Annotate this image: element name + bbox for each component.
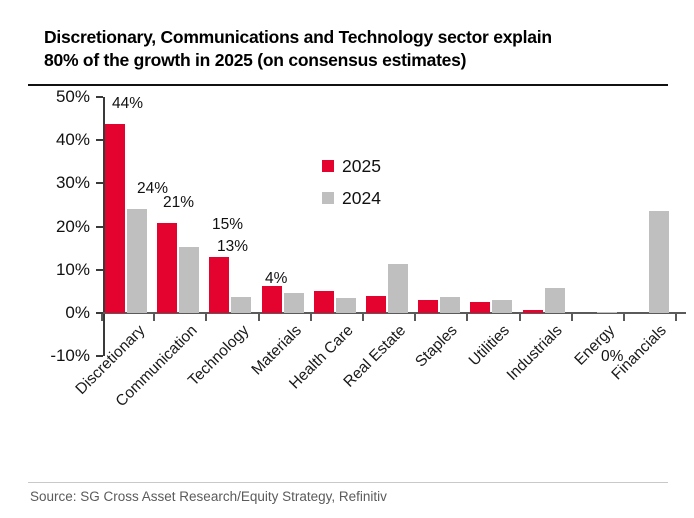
bar-2024-industrials[interactable] (545, 288, 565, 313)
legend-label-2024: 2024 (342, 188, 381, 209)
bar-2024-communication[interactable] (179, 247, 199, 313)
bar-2025-discretionary[interactable] (105, 124, 125, 313)
bar-2024-health-care[interactable] (336, 298, 356, 313)
legend-item-2024[interactable]: 2024 (322, 182, 381, 214)
x-axis-tick-mark (101, 314, 103, 321)
bar-2024-financials[interactable] (649, 211, 669, 313)
legend-label-2025: 2025 (342, 156, 381, 177)
chart-legend: 2025 2024 (322, 150, 381, 214)
bar-2025-technology[interactable] (209, 257, 229, 313)
x-axis-tick-mark (310, 314, 312, 321)
bar-2025-industrials[interactable] (523, 310, 543, 313)
y-axis-tick-mark (96, 96, 103, 98)
y-axis-tick-mark (96, 269, 103, 271)
x-axis-tick-mark (205, 314, 207, 321)
x-axis-category-label: Utilities (466, 322, 514, 370)
bar-2025-staples[interactable] (418, 300, 438, 313)
bar-value-label: 44% (112, 95, 143, 113)
y-axis-tick-mark (96, 226, 103, 228)
bar-2024-technology[interactable] (231, 297, 251, 313)
y-axis-tick-label: 20% (26, 217, 90, 237)
y-axis-tick-mark (96, 182, 103, 184)
y-axis-tick-label: 40% (26, 130, 90, 150)
y-axis-tick-label: 0% (26, 303, 90, 323)
x-axis-tick-mark (362, 314, 364, 321)
bar-2025-health-care[interactable] (314, 291, 334, 313)
legend-swatch-icon-2024 (322, 192, 334, 204)
x-axis-category-label: Industrials (504, 322, 567, 385)
bar-2024-energy[interactable] (597, 312, 617, 313)
y-axis-tick-label: 30% (26, 173, 90, 193)
bar-value-label: 15% (212, 216, 243, 234)
bar-2024-utilities[interactable] (492, 300, 512, 313)
source-note: Source: SG Cross Asset Research/Equity S… (30, 489, 387, 504)
bar-2024-materials[interactable] (284, 293, 304, 313)
bar-2025-materials[interactable] (262, 286, 282, 313)
bar-chart: 50%40%30%20%10%0%-10% 44%24%21%15%13%4%0… (0, 0, 694, 518)
x-axis-category-label: Staples (413, 322, 462, 371)
bar-2025-real-estate[interactable] (366, 296, 386, 313)
y-axis-tick-label: 50% (26, 87, 90, 107)
bar-value-label: 13% (217, 238, 248, 256)
footer-divider (28, 482, 668, 483)
y-axis-tick-mark (96, 139, 103, 141)
bar-2024-real-estate[interactable] (388, 264, 408, 313)
y-axis-tick-label: -10% (26, 346, 90, 366)
x-axis-tick-mark (675, 314, 677, 321)
y-axis-tick-label: 10% (26, 260, 90, 280)
x-axis-tick-mark (153, 314, 155, 321)
x-axis-tick-mark (571, 314, 573, 321)
bar-2025-utilities[interactable] (470, 302, 490, 313)
x-axis-tick-mark (623, 314, 625, 321)
x-axis-tick-mark (414, 314, 416, 321)
legend-swatch-icon-2025 (322, 160, 334, 172)
bar-value-label: 4% (265, 270, 287, 288)
x-axis-tick-mark (258, 314, 260, 321)
bar-2024-staples[interactable] (440, 297, 460, 313)
x-axis-tick-mark (519, 314, 521, 321)
bar-2024-discretionary[interactable] (127, 209, 147, 313)
legend-item-2025[interactable]: 2025 (322, 150, 381, 182)
x-axis-tick-mark (466, 314, 468, 321)
bar-2025-communication[interactable] (157, 223, 177, 313)
bar-value-label: 21% (163, 194, 194, 212)
